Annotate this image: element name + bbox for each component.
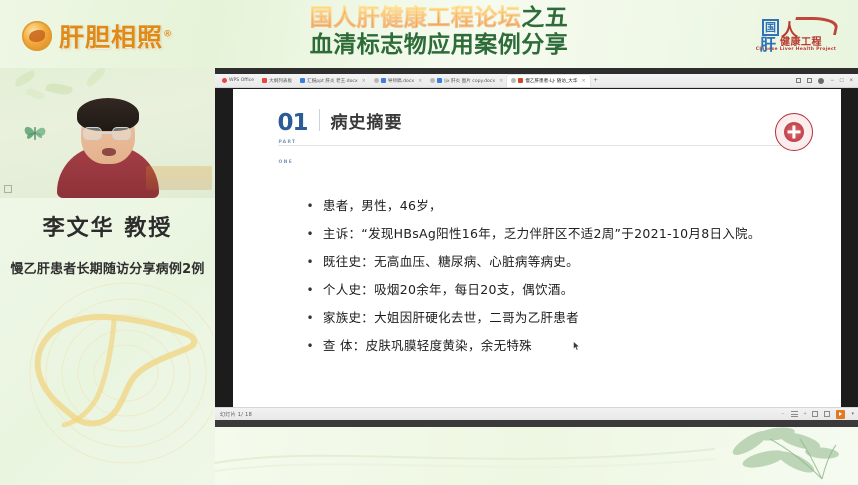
tab-doc-3[interactable]: ljx 肝炎 图片 copy.docx × [426,75,507,87]
bullet-text: 主诉：“发现HBsAg阳性16年，乏力伴肝区不适2周”于2021-10月8日入院… [323,220,761,248]
list-item: • 患者，男性，46岁， [307,192,807,220]
brand-name: 肝胆相照® [59,18,173,54]
tab-close-icon[interactable]: × [418,78,422,84]
outline-view-icon[interactable] [791,411,798,417]
forum-title-suffix: 之五 [521,5,568,31]
registered-mark: ® [163,30,173,40]
slide-counter: 幻灯片 1/ 18 [220,411,252,418]
top-banner: 肝胆相照® 国人肝健康工程论坛之五 血清标志物应用案例分享 国 人 肝 健康工程… [0,0,858,68]
bullet-marker: • [307,276,314,304]
zoom-out-icon[interactable]: − [782,411,785,417]
tab-label: 导师稿.docx [388,78,414,84]
list-item: • 查 体：皮肤巩膜轻度黄染，余无特殊 [307,332,807,360]
close-button[interactable]: × [849,78,853,84]
project-logo-art: 国 人 肝 健康工程 [750,15,842,49]
video-corner-badge-icon [4,185,12,193]
video-leaf-decor [13,70,37,87]
new-tab-button[interactable]: + [594,77,598,84]
tab-label: 慢乙肝患者-LJ- 随访_大华 [525,78,577,84]
forum-subtitle: 血清标志物应用案例分享 [279,32,599,59]
tab-strip: WPS Office 大纲列表板 汇报ppt 肝炎 老王.docx × 导师稿.… [215,74,858,88]
tab-doc-1[interactable]: 汇报ppt 肝炎 老王.docx × [296,75,370,87]
slide-title: 病史摘要 [331,114,403,133]
tab-active-presentation[interactable]: 慢乙肝患者-LJ- 随访_大华 × [507,75,589,87]
tab-outline-panel[interactable]: 大纲列表板 [258,75,296,87]
hospital-cross-icon [792,125,795,138]
slide-bullet-list: • 患者，男性，46岁， • 主诉：“发现HBsAg阳性16年，乏力伴肝区不适2… [307,192,807,360]
gray-doc-icon [430,78,435,83]
bullet-marker: • [307,248,314,276]
video-leaf-decor [84,68,108,88]
list-item: • 家族史：大姐因肝硬化去世，二哥为乙肝患者 [307,304,807,332]
liver-mark-icon [22,21,52,51]
bullet-marker: • [307,220,314,248]
minimize-button[interactable]: − [830,78,834,84]
brand-name-text: 肝胆相照 [59,23,163,52]
liver-outline-decor [8,273,213,473]
window-bottom-bar [215,420,858,427]
window-controls: − □ × [796,78,858,84]
speaker-mouth [102,148,116,156]
tab-close-icon[interactable]: × [362,78,366,84]
restore-icon[interactable] [796,78,801,83]
brand-logo: 肝胆相照® [22,18,173,54]
powerpoint-window: WPS Office 大纲列表板 汇报ppt 肝炎 老王.docx × 导师稿.… [215,68,858,427]
chevron-down-icon[interactable]: ▾ [851,411,854,417]
speaker-glasses-right [112,127,131,140]
left-panel: 李文华 教授 慢乙肝患者长期随访分享病例2例 [0,68,215,485]
speaker-info: 李文华 教授 慢乙肝患者长期随访分享病例2例 [0,210,215,277]
bottom-decor-strip [215,427,858,485]
leaf-spray-decor [704,427,854,485]
wave-decor [215,433,715,477]
maximize-button[interactable]: □ [840,78,844,84]
forum-title-main: 国人肝健康工程论坛 [310,5,522,31]
bullet-marker: • [307,304,314,332]
status-right-controls: − + ▾ [782,410,858,419]
slide-header: 01 PART ONE 病史摘要 [278,109,403,133]
speaker-glasses-bridge [102,132,112,134]
header-divider [319,109,320,131]
speaker-video[interactable] [0,68,215,198]
bullet-text: 个人史：吸烟20余年，每日20支，偶饮酒。 [323,276,574,304]
settings-icon[interactable] [807,78,812,83]
hospital-emblem-icon [775,113,813,151]
tab-label: 大纲列表板 [269,78,292,84]
tab-close-icon[interactable]: × [499,78,503,84]
speaker-glasses-left [83,127,102,140]
tab-doc-2[interactable]: 导师稿.docx × [370,75,426,87]
project-logo: 国 人 肝 健康工程 Chinese Liver Health Project [748,9,844,57]
bullet-text: 家族史：大姐因肝硬化去世，二哥为乙肝患者 [323,304,579,332]
bullet-marker: • [307,192,314,220]
forum-title: 国人肝健康工程论坛之五 血清标志物应用案例分享 [279,5,599,59]
powerpoint-statusbar: 幻灯片 1/ 18 − + ▾ [215,407,858,420]
tab-label: ljx 肝炎 图片 copy.docx [444,78,495,84]
tab-wps-office[interactable]: WPS Office [218,75,258,87]
blue-doc-icon [381,78,386,83]
bullet-text: 患者，男性，46岁， [323,192,442,220]
slide[interactable]: 01 PART ONE 病史摘要 • 患者，男性，46岁， • 主诉：“发现HB… [233,89,841,407]
slideshow-play-button[interactable] [836,410,845,419]
blue-doc-icon [437,78,442,83]
ppt-icon [518,78,523,83]
video-watermark [146,166,212,190]
bullet-text: 既往史：无高血压、糖尿病、心脏病等病史。 [323,248,579,276]
part-number: 01 PART ONE [278,113,308,133]
red-doc-icon [262,78,267,83]
header-rule [278,145,783,146]
slide-sorter-icon[interactable] [824,411,830,417]
forum-title-line1: 国人肝健康工程论坛之五 [279,5,599,32]
video-leaf-decor [25,86,45,102]
wps-icon [222,78,227,83]
bullet-marker: • [307,332,314,360]
list-item: • 既往史：无高血压、糖尿病、心脏病等病史。 [307,248,807,276]
part-subtitle: PART ONE [279,133,308,173]
speaker-topic: 慢乙肝患者长期随访分享病例2例 [0,258,215,277]
list-item: • 个人史：吸烟20余年，每日20支，偶饮酒。 [307,276,807,304]
zoom-in-icon[interactable]: + [804,411,807,417]
gray-doc-icon [374,78,379,83]
gray-doc-icon [511,78,516,83]
speaker-hair [77,98,139,131]
list-item: • 主诉：“发现HBsAg阳性16年，乏力伴肝区不适2周”于2021-10月8日… [307,220,807,248]
tab-close-icon[interactable]: × [581,78,585,84]
logo-sub-text: 健康工程 [780,33,822,48]
logo-gan-char: 肝 [760,31,776,55]
speaker-name: 李文华 教授 [0,210,215,242]
mouse-cursor-icon [573,341,580,351]
bullet-text: 查 体：皮肤巩膜轻度黄染，余无特殊 [323,332,532,360]
tab-label: WPS Office [229,78,254,83]
normal-view-icon[interactable] [812,411,818,417]
tab-label: 汇报ppt 肝炎 老王.docx [307,78,358,84]
slide-canvas-area: 01 PART ONE 病史摘要 • 患者，男性，46岁， • 主诉：“发现HB… [215,88,858,407]
blue-doc-icon [300,78,305,83]
avatar-icon[interactable] [818,78,824,84]
